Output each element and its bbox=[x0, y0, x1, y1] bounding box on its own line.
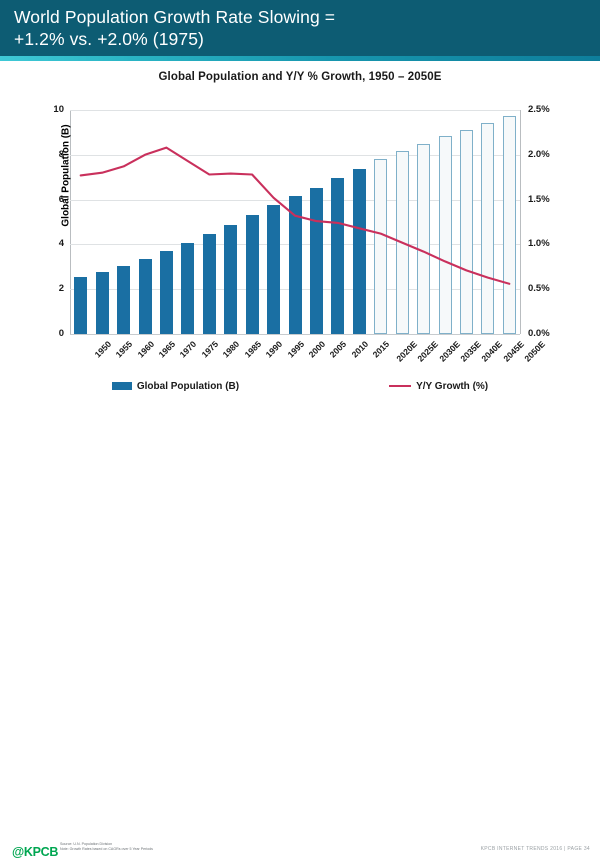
x-tick-label: 1970 bbox=[178, 339, 199, 360]
legend-bar-swatch bbox=[112, 382, 132, 390]
x-tick-label: 1950 bbox=[92, 339, 113, 360]
x-tick-label: 2010 bbox=[349, 339, 370, 360]
x-tick-label: 1965 bbox=[157, 339, 178, 360]
kpcb-logo: @KPCB bbox=[12, 845, 58, 859]
x-tick-label: 1985 bbox=[242, 339, 263, 360]
slide-header: World Population Growth Rate Slowing = +… bbox=[0, 0, 600, 56]
x-tick-label: 2040E bbox=[480, 339, 505, 364]
footnotes: Source: U.N. Population Division Note: G… bbox=[60, 842, 153, 852]
right-tick-label: 2.0% bbox=[528, 149, 574, 160]
method-note: Note: Growth Rates based on CAGRs over 5… bbox=[60, 847, 153, 852]
left-tick-label: 4 bbox=[24, 238, 64, 249]
deck-label: KPCB INTERNET TRENDS 2016 | PAGE 34 bbox=[481, 846, 590, 852]
x-tick-label: 2020E bbox=[394, 339, 419, 364]
right-axis-line bbox=[520, 110, 521, 334]
x-tick-label: 2030E bbox=[437, 339, 462, 364]
gridline bbox=[70, 334, 520, 335]
x-tick-label: 1995 bbox=[285, 339, 306, 360]
x-tick-label: 2000 bbox=[307, 339, 328, 360]
left-tick-label: 2 bbox=[24, 283, 64, 294]
legend-population-label: Global Population (B) bbox=[137, 381, 239, 392]
x-tick-label: 2035E bbox=[458, 339, 483, 364]
right-tick-label: 1.0% bbox=[528, 238, 574, 249]
x-tick-label: 2015 bbox=[371, 339, 392, 360]
x-tick-label: 2025E bbox=[415, 339, 440, 364]
right-tick-label: 0.0% bbox=[528, 328, 574, 339]
header-accent-bar bbox=[0, 56, 600, 61]
x-tick-label: 1960 bbox=[135, 339, 156, 360]
right-tick-label: 2.5% bbox=[528, 104, 574, 115]
x-tick-label: 2050E bbox=[523, 339, 548, 364]
left-tick-label: 0 bbox=[24, 328, 64, 339]
chart-legend: Global Population (B) Y/Y Growth (%) bbox=[0, 379, 600, 393]
x-tick-label: 1975 bbox=[199, 339, 220, 360]
x-tick-label: 1990 bbox=[264, 339, 285, 360]
right-tick-label: 0.5% bbox=[528, 283, 574, 294]
x-tick-label: 1955 bbox=[114, 339, 135, 360]
slide-title: World Population Growth Rate Slowing = +… bbox=[14, 6, 574, 50]
slide-footer: @KPCB Source: U.N. Population Division N… bbox=[0, 418, 600, 450]
left-tick-label: 8 bbox=[24, 149, 64, 160]
legend-line-swatch bbox=[389, 385, 411, 387]
growth-line-series bbox=[70, 110, 520, 334]
growth-line-path bbox=[81, 148, 510, 284]
right-tick-label: 1.5% bbox=[528, 194, 574, 205]
plot-area bbox=[70, 110, 520, 334]
x-tick-label: 2045E bbox=[501, 339, 526, 364]
chart-title: Global Population and Y/Y % Growth, 1950… bbox=[0, 71, 600, 83]
left-tick-label: 6 bbox=[24, 194, 64, 205]
legend-item-growth: Y/Y Growth (%) bbox=[389, 381, 488, 392]
x-tick-label: 1980 bbox=[221, 339, 242, 360]
legend-growth-label: Y/Y Growth (%) bbox=[416, 381, 488, 392]
x-tick-label: 2005 bbox=[328, 339, 349, 360]
legend-item-population: Global Population (B) bbox=[112, 381, 239, 392]
left-tick-label: 10 bbox=[24, 104, 64, 115]
